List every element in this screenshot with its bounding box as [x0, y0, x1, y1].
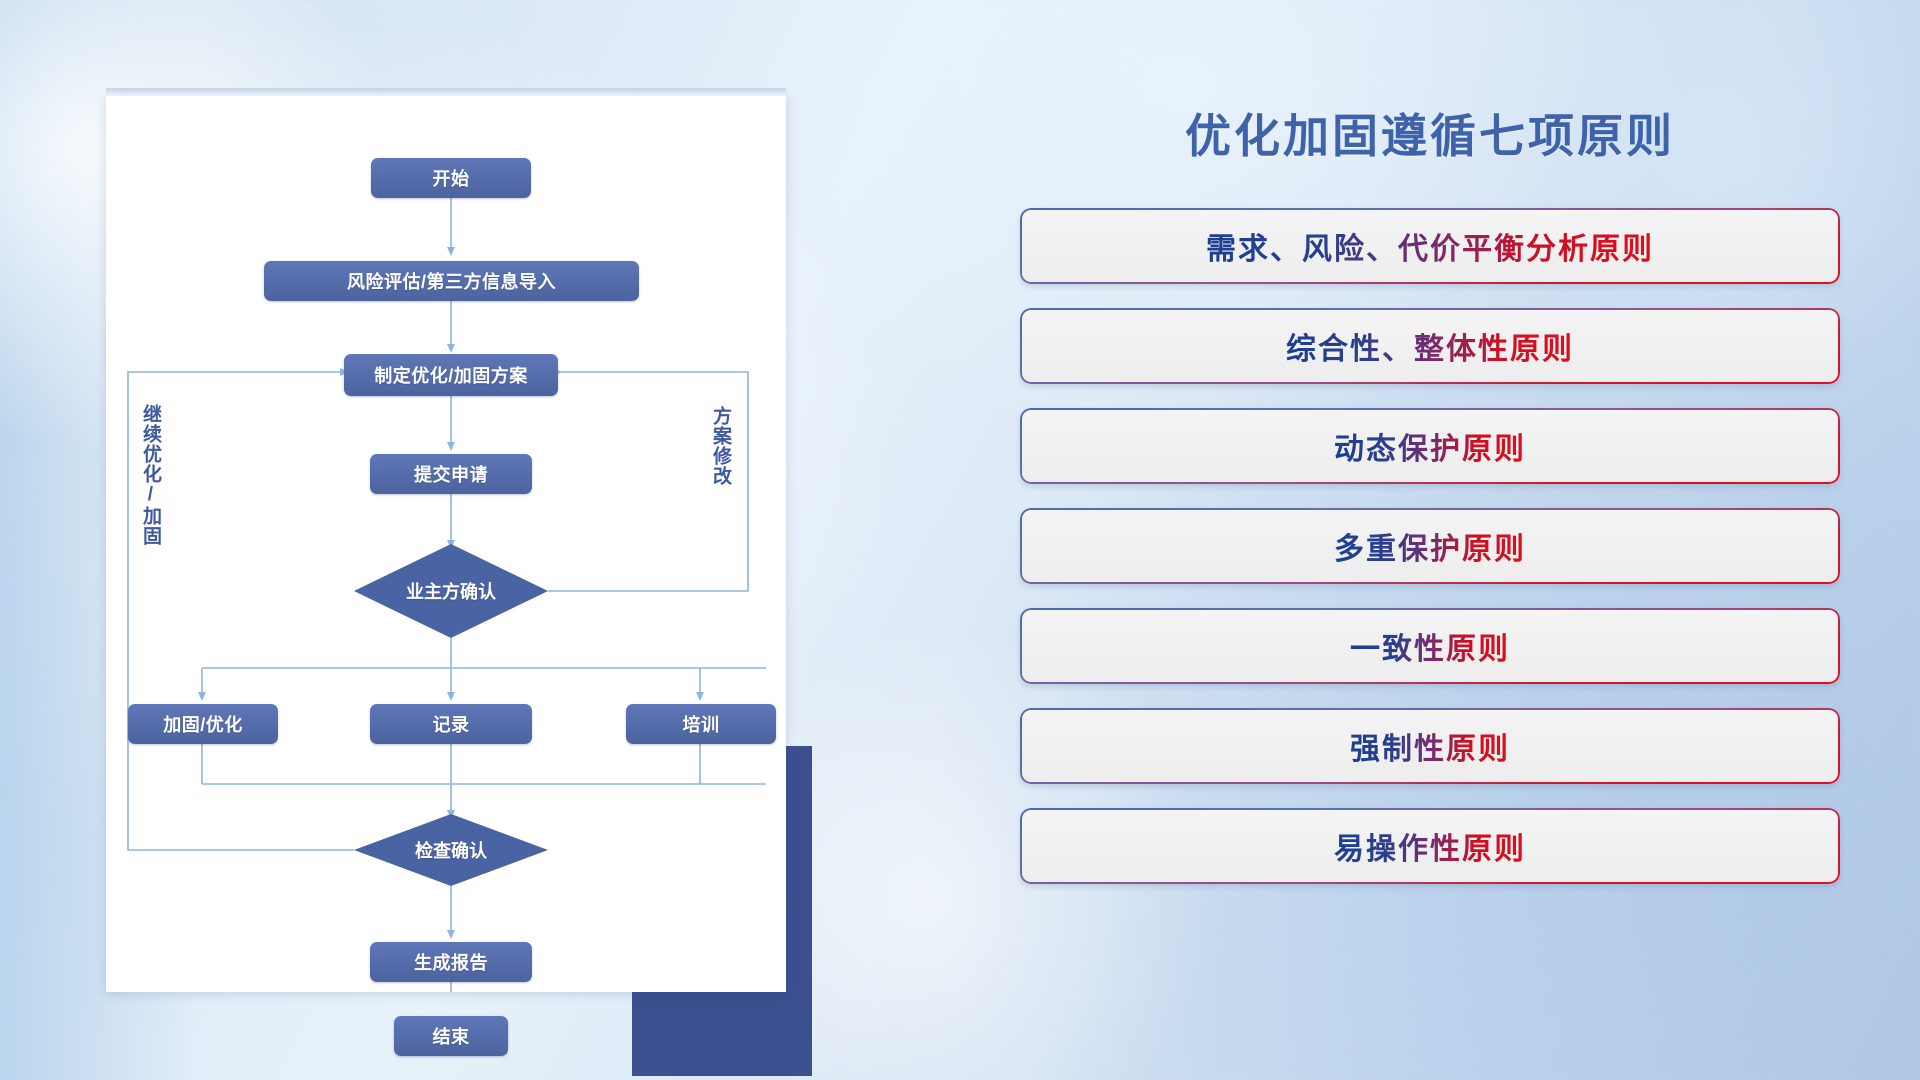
flow-node-reinforce-optimize[interactable]: 加固/优化 — [128, 704, 278, 744]
flow-node-label: 业主方确认 — [406, 578, 496, 604]
flow-node-end[interactable]: 结束 — [394, 1016, 508, 1056]
flow-node-plan[interactable]: 制定优化/加固方案 — [344, 354, 558, 396]
principle-item-5[interactable]: 一致性原则 — [1020, 608, 1840, 684]
flow-node-label: 生成报告 — [414, 949, 488, 975]
flow-edge-label-plan-revision: 方案修改 — [710, 406, 730, 556]
flow-node-label: 加固/优化 — [163, 711, 243, 737]
flow-node-label: 培训 — [683, 711, 720, 737]
principle-item-7[interactable]: 易操作性原则 — [1020, 808, 1840, 884]
flow-node-label: 制定优化/加固方案 — [374, 362, 528, 388]
principle-label: 易操作性原则 — [1334, 824, 1526, 868]
flow-node-label: 开始 — [433, 165, 470, 191]
flow-node-label: 结束 — [433, 1023, 470, 1049]
principle-label: 强制性原则 — [1350, 724, 1510, 768]
principle-item-4[interactable]: 多重保护原则 — [1020, 508, 1840, 584]
flow-node-label: 提交申请 — [414, 461, 488, 487]
flow-node-risk-assessment[interactable]: 风险评估/第三方信息导入 — [264, 261, 639, 301]
flow-node-record[interactable]: 记录 — [370, 704, 532, 744]
principles-panel: 优化加固遵循七项原则 需求、风险、代价平衡分析原则 综合性、整体性原则 动态保护… — [1020, 100, 1840, 908]
flow-node-generate-report[interactable]: 生成报告 — [370, 942, 532, 982]
flow-node-label: 记录 — [433, 711, 470, 737]
flowchart-panel: 开始 风险评估/第三方信息导入 制定优化/加固方案 提交申请 业主方确认 加固/… — [106, 96, 786, 996]
flow-node-submit-application[interactable]: 提交申请 — [370, 454, 532, 494]
flow-node-start[interactable]: 开始 — [371, 158, 531, 198]
principle-item-2[interactable]: 综合性、整体性原则 — [1020, 308, 1840, 384]
page-title: 优化加固遵循七项原则 — [1020, 100, 1840, 166]
principle-label: 需求、风险、代价平衡分析原则 — [1206, 224, 1654, 268]
flow-node-label: 检查确认 — [415, 837, 487, 863]
principle-label: 一致性原则 — [1350, 624, 1510, 668]
principle-item-1[interactable]: 需求、风险、代价平衡分析原则 — [1020, 208, 1840, 284]
principle-label: 动态保护原则 — [1334, 424, 1526, 468]
principle-item-3[interactable]: 动态保护原则 — [1020, 408, 1840, 484]
principle-item-6[interactable]: 强制性原则 — [1020, 708, 1840, 784]
principle-label: 综合性、整体性原则 — [1286, 324, 1574, 368]
flow-node-training[interactable]: 培训 — [626, 704, 776, 744]
flow-node-label: 风险评估/第三方信息导入 — [347, 268, 556, 294]
principle-label: 多重保护原则 — [1334, 524, 1526, 568]
flow-edge-label-continue-optimize: 继续优化/加固 — [140, 404, 160, 584]
